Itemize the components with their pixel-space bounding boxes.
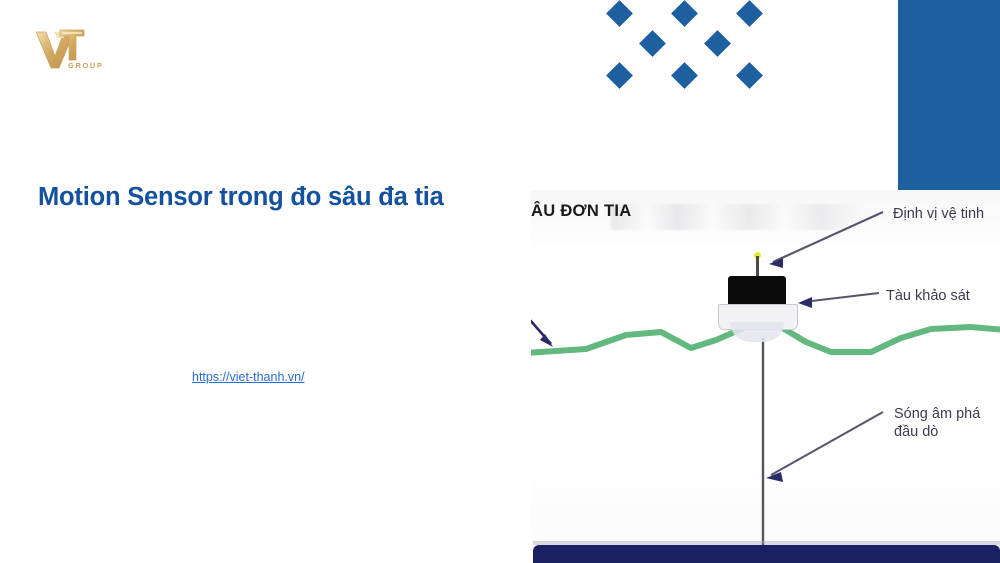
survey-vessel-illustration (716, 250, 798, 330)
label-survey-vessel: Tàu khảo sát (886, 287, 970, 305)
diamond-icon (736, 62, 763, 89)
diamond-icon (606, 0, 633, 27)
diamond-decoration-group (600, 0, 780, 100)
diagram-vector-layer (531, 190, 1000, 563)
page-title: Motion Sensor trong đo sâu đa tia (38, 182, 508, 214)
seabed-band (533, 545, 1000, 563)
water-surface-arrow (531, 312, 553, 347)
website-link[interactable]: https://viet-thanh.vn/ (192, 370, 305, 384)
survey-diagram-image: ÂU ĐƠN TIA (531, 190, 1000, 563)
diamond-icon (736, 0, 763, 27)
vessel-cabin (728, 276, 786, 306)
diamond-icon (671, 0, 698, 27)
blue-accent-panel (898, 0, 1000, 190)
logo-group-text: GROUP (68, 61, 104, 70)
label-satellite-positioning: Định vị vệ tinh (893, 205, 984, 223)
label-acoustic-wave-line1: Sóng âm phá (894, 405, 980, 423)
survey-vessel-arrow (798, 293, 879, 308)
diamond-icon (606, 62, 633, 89)
label-acoustic-wave-line2: đầu dò (894, 423, 938, 441)
antenna-mast (756, 256, 759, 278)
presentation-slide: GROUP Motion Sensor trong đo sâu đa tia … (0, 0, 1000, 563)
diamond-icon (704, 30, 731, 57)
vt-group-logo: GROUP (32, 26, 106, 74)
acoustic-wave-arrow (766, 412, 883, 482)
diamond-icon (639, 30, 666, 57)
diamond-icon (671, 62, 698, 89)
